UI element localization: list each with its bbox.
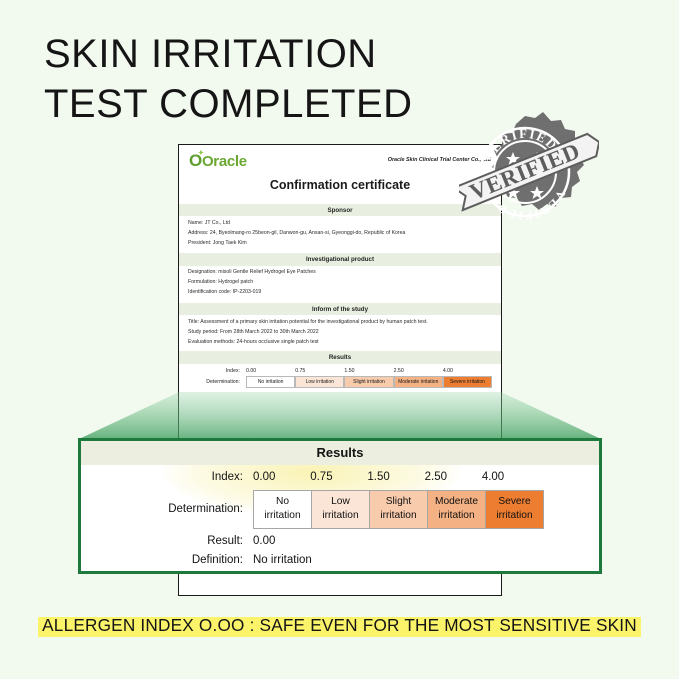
certificate-title: Confirmation certificate [179,178,501,192]
determination-cell-line1: Slight [370,495,427,509]
index-value: 0.75 [310,471,367,483]
mini-determination-cell: No irritation [246,376,295,388]
spacer [179,246,501,253]
headline-line-1: SKIN IRRITATION [44,32,377,76]
determination-cell-line1: Severe [486,495,543,509]
index-values: 0.00 0.75 1.50 2.50 4.00 [253,471,599,483]
section-heading-inform-of-the-study: Inform of the study [179,303,501,315]
mini-index-values: 0.00 0.75 1.50 2.50 4.00 [246,368,492,374]
determination-cell-moderate: Moderate irritation [428,490,486,529]
determination-cell-no: No irritation [253,490,312,529]
section-heading-sponsor: Sponsor [179,204,501,216]
verified-stamp-icon: VERIFIED VERIFIED VERIFIED [459,110,599,242]
index-value: 2.50 [425,471,482,483]
mini-index-value: 4.00 [443,368,492,374]
determination-cell-line2: irritation [428,509,485,523]
determination-cell-line1: No [254,495,311,509]
result-row: Result: 0.00 [81,535,599,547]
results-heading: Results [81,441,599,465]
sponsor-president: President: Jong Taek Kim [179,236,501,246]
product-identification-code: Identification code: IP-2203-019 [179,286,501,296]
determination-cell-line2: irritation [312,509,369,523]
determination-cell-line2: irritation [370,509,427,523]
sponsor-address: Address: 24, Byeolmang-ro 25beon-gil, Da… [179,226,501,236]
study-evaluation-methods: Evaluation methods: 24-hours occlusive s… [179,335,501,345]
mini-determination-cell: Low irritation [295,376,344,388]
section-heading-results: Results [179,351,501,363]
allergen-index-banner: ALLERGEN INDEX O.OO : SAFE EVEN FOR THE … [0,613,679,639]
results-callout-panel: Results Index: 0.00 0.75 1.50 2.50 4.00 … [78,438,602,574]
oracle-logo: O✦Oracle [189,152,247,169]
mini-index-value: 1.50 [344,368,393,374]
product-formulation: Formulation: Hydrogel patch [179,276,501,286]
determination-scale: No irritation Low irritation Slight irri… [253,490,544,529]
mini-determination-cells: No irritation Low irritation Slight irri… [246,376,492,388]
index-value: 1.50 [367,471,424,483]
determination-cell-line2: irritation [486,509,543,523]
index-value: 0.00 [253,471,310,483]
mini-index-value: 0.00 [246,368,295,374]
oracle-logo-text: Oracle [202,153,247,170]
leaf-icon: ✦ [198,150,204,157]
sponsor-name: Name: JT Co., Ltd [179,216,501,226]
result-label: Result: [81,535,253,547]
certificate-results-block: Results Index: 0.00 0.75 1.50 2.50 4.00 … [179,351,501,387]
mini-determination-cell: Severe irritation [443,376,492,388]
mini-determination-row: Determination: No irritation Low irritat… [179,376,501,388]
study-period: Study period: From 28th March 2022 to 30… [179,325,501,335]
mini-determination-cell: Slight irritation [344,376,393,388]
determination-row: Determination: No irritation Low irritat… [81,490,599,529]
poster-canvas: SKIN IRRITATION TEST COMPLETED O✦Oracle … [0,0,679,679]
mini-index-value: 0.75 [295,368,344,374]
mini-determination-cell: Moderate irritation [394,376,443,388]
spacer [179,296,501,303]
certificate-header: O✦Oracle Oracle Skin Clinical Trial Cent… [179,145,501,169]
section-heading-investigational-product: Investigational product [179,253,501,265]
index-label: Index: [81,471,253,483]
definition-label: Definition: [81,554,253,566]
determination-cell-line2: irritation [254,509,311,523]
study-title: Title: Assessment of a primary skin irri… [179,315,501,325]
definition-row: Definition: No irritation [81,554,599,566]
mini-determination-label: Determination: [188,379,246,385]
determination-label: Determination: [81,503,253,515]
results-body: Index: 0.00 0.75 1.50 2.50 4.00 Determin… [81,465,599,566]
determination-cell-line1: Low [312,495,369,509]
determination-cell-slight: Slight irritation [370,490,428,529]
product-designation: Designation: misoli Gentle Relief Hydrog… [179,266,501,276]
determination-cell-low: Low irritation [312,490,370,529]
mini-index-value: 2.50 [394,368,443,374]
definition-value: No irritation [253,554,312,566]
mini-index-label: Index: [188,368,246,374]
index-row: Index: 0.00 0.75 1.50 2.50 4.00 [81,471,599,483]
index-value: 4.00 [482,471,539,483]
determination-cell-line1: Moderate [428,495,485,509]
allergen-index-text: ALLERGEN INDEX O.OO : SAFE EVEN FOR THE … [38,613,641,639]
determination-cell-severe: Severe irritation [486,490,544,529]
result-value: 0.00 [253,535,275,547]
mini-index-row: Index: 0.00 0.75 1.50 2.50 4.00 [179,364,501,376]
